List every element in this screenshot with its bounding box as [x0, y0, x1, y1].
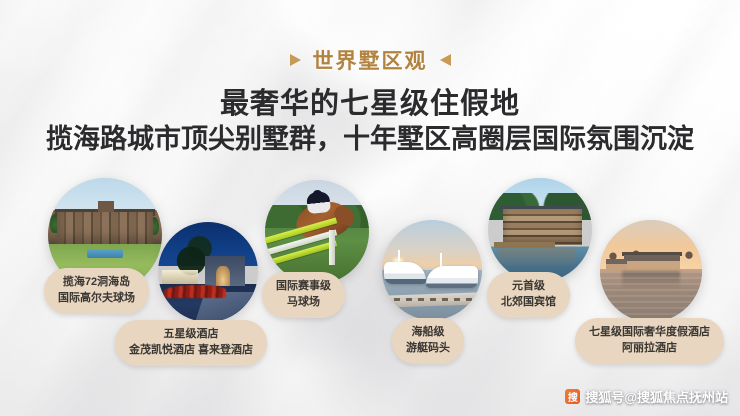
subheadline: 揽海路城市顶尖别墅群，十年墅区高圈层国际氛围沉淀 [0, 117, 740, 156]
amenity-photo-alila-resort [600, 220, 702, 322]
amenity-label-line2: 国际高尔夫球场 [58, 291, 135, 307]
amenity-label-yacht-marina: 海船级 游艇码头 [392, 318, 464, 364]
amenity-label-line2: 金茂凯悦酒店 喜来登酒店 [129, 343, 253, 359]
amenity-photo-five-star-hotels [158, 222, 258, 322]
amenity-label-line2: 游艇码头 [406, 341, 450, 357]
amenity-label-five-star-hotels: 五星级酒店 金茂凯悦酒店 喜来登酒店 [115, 320, 267, 366]
amenity-label-line2: 北郊国宾馆 [501, 295, 556, 311]
amenity-label-line1: 五星级酒店 [129, 327, 253, 343]
amenity-label-line1: 国际赛事级 [276, 279, 331, 295]
eyebrow-row: 世界墅区观 [0, 45, 740, 75]
amenity-photo-state-guesthouse [488, 178, 592, 282]
sohu-logo-icon: 搜 [565, 389, 580, 404]
amenity-label-line1: 海船级 [406, 325, 450, 341]
amenity-label-state-guesthouse: 元首级 北郊国宾馆 [487, 272, 570, 318]
eyebrow-text: 世界墅区观 [313, 45, 428, 75]
equestrian-show-jumping-photo [265, 180, 369, 284]
amenity-label-line1: 元首级 [501, 279, 556, 295]
amenity-photo-polo [265, 180, 369, 284]
watermark-text: 搜狐号@搜狐焦点抚州站 [585, 387, 728, 406]
amenity-label-line1: 揽海72洞海岛 [58, 275, 135, 291]
amenity-photo-yacht-marina [382, 220, 482, 320]
amenity-label-alila-resort: 七星级国际奢华度假酒店 阿丽拉酒店 [575, 318, 724, 364]
amenity-label-polo: 国际赛事级 马球场 [262, 272, 345, 318]
amenity-label-line1: 七星级国际奢华度假酒店 [589, 325, 710, 341]
yacht-marina-sunset-photo [382, 220, 482, 320]
alila-resort-dusk-photo [600, 220, 702, 322]
hotel-entrance-night-photo [158, 222, 258, 322]
poster-canvas: 世界墅区观 最奢华的七星级住假地 揽海路城市顶尖别墅群，十年墅区高圈层国际氛围沉… [0, 0, 740, 416]
arrow-left-icon [440, 54, 451, 66]
headline: 最奢华的七星级住假地 [0, 80, 740, 122]
lakeside-guesthouse-photo [488, 178, 592, 282]
amenity-label-line2: 马球场 [276, 295, 331, 311]
amenity-label-golf: 揽海72洞海岛 国际高尔夫球场 [44, 268, 149, 314]
amenity-label-line2: 阿丽拉酒店 [589, 341, 710, 357]
arrow-right-icon [290, 54, 301, 66]
watermark: 搜 搜狐号@搜狐焦点抚州站 [565, 387, 728, 406]
